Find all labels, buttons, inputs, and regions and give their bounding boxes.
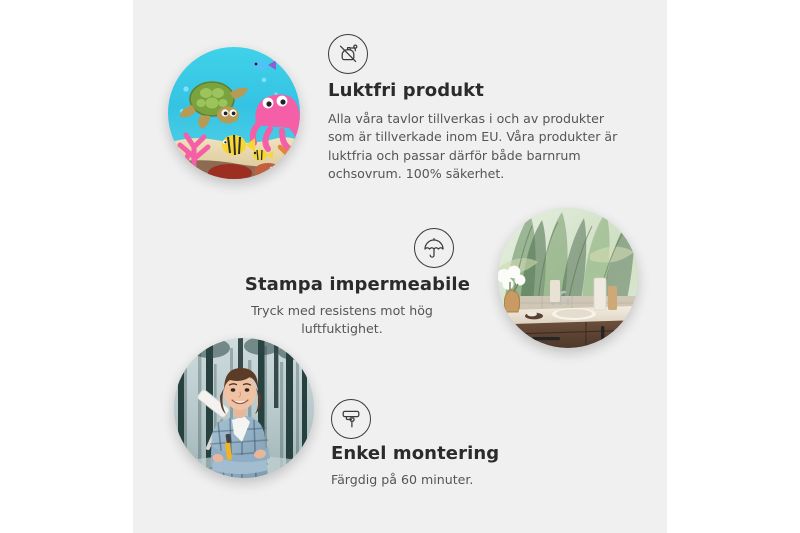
feature-body: Alla våra tavlor tillverkas i och av pro… (328, 110, 624, 185)
feature-body: Tryck med resistens mot hög luftfuktighe… (214, 302, 470, 339)
feature-odourless: Luktfri produkt Alla våra tavlor tillver… (328, 34, 628, 184)
feature-mounting: Enkel montering Färgdig på 60 minuter. (331, 399, 571, 489)
poster-canvas: Luktfri produkt Alla våra tavlor tillver… (0, 0, 800, 533)
feature-title: Enkel montering (331, 443, 571, 465)
no-fragrance-icon (328, 34, 368, 74)
feature-title: Luktfri produkt (328, 80, 628, 102)
product-photo-bathroom (498, 208, 638, 348)
feature-waterproof: Stampa impermeabile Tryck med resistens … (214, 228, 470, 339)
paint-roller-icon (331, 399, 371, 439)
feature-body: Färgdig på 60 minuter. (331, 471, 571, 490)
umbrella-icon (414, 228, 454, 268)
product-photo-forest (174, 338, 314, 478)
feature-title: Stampa impermeabile (214, 274, 470, 296)
product-photo-sealife (168, 47, 300, 179)
